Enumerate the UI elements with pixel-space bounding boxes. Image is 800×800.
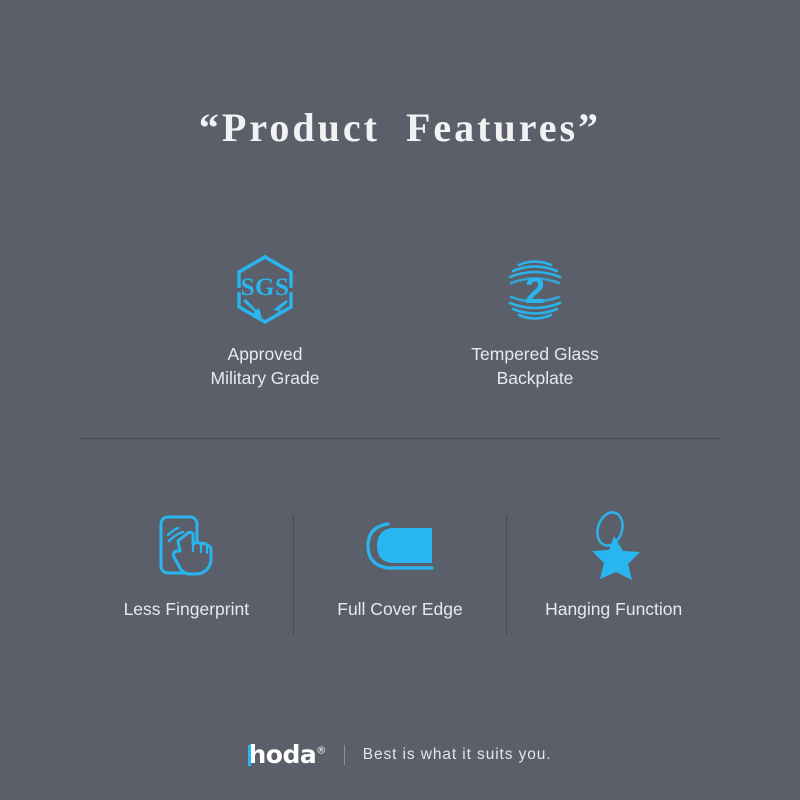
feature-tempered-glass-backplate: 2 Tempered Glass Backplate	[450, 250, 620, 390]
feature-caption: Approved Military Grade	[211, 342, 320, 390]
section-divider	[80, 438, 720, 439]
feature-less-fingerprint: Less Fingerprint	[80, 505, 293, 621]
feature-caption-line1: Full Cover	[337, 599, 417, 619]
feature-full-cover-edge: Full Cover Edge	[294, 505, 507, 621]
touch-phone-icon	[155, 505, 217, 587]
feature-caption-line1: Approved	[228, 344, 303, 364]
double-tempered-glass-icon: 2	[497, 250, 573, 330]
bottom-feature-row: Less Fingerprint Full Cover Edge	[80, 505, 720, 635]
sgs-certification-icon: SGS	[229, 250, 301, 330]
brand-name: hoda	[248, 740, 316, 769]
feature-caption-line2: Backplate	[471, 366, 598, 390]
page-title: “Product Features”	[0, 104, 800, 151]
curved-edge-icon	[362, 505, 438, 587]
feature-caption-line1: Less	[124, 599, 161, 619]
feature-caption-line1: Hanging	[545, 599, 610, 619]
feature-caption: Full Cover Edge	[337, 597, 463, 621]
feature-caption: Tempered Glass Backplate	[471, 342, 598, 390]
brand-tagline: Best is what it suits you.	[363, 746, 552, 764]
product-features-slide: “Product Features” SGS Ap	[0, 0, 800, 800]
feature-caption: Hanging Function	[545, 597, 682, 621]
feature-caption-line2: Fingerprint	[165, 599, 249, 619]
brand-logo: hoda®	[248, 742, 325, 767]
feature-caption-line2: Military Grade	[211, 366, 320, 390]
feature-approved-military-grade: SGS Approved Military Grade	[180, 250, 350, 390]
footer: hoda® Best is what it suits you.	[0, 742, 800, 767]
feature-caption: Less Fingerprint	[124, 597, 250, 621]
footer-divider	[344, 745, 345, 765]
svg-text:SGS: SGS	[241, 274, 290, 301]
feature-hanging-function: Hanging Function	[507, 505, 720, 621]
feature-caption-line1: Tempered Glass	[471, 344, 598, 364]
hanging-star-tag-icon	[582, 505, 646, 587]
feature-caption-line2: Edge	[422, 599, 463, 619]
brand-accent-stem	[248, 745, 251, 766]
feature-caption-line2: Function	[615, 599, 682, 619]
top-feature-row: SGS Approved Military Grade	[0, 250, 800, 390]
registered-mark: ®	[316, 746, 326, 757]
svg-text:2: 2	[525, 270, 545, 311]
